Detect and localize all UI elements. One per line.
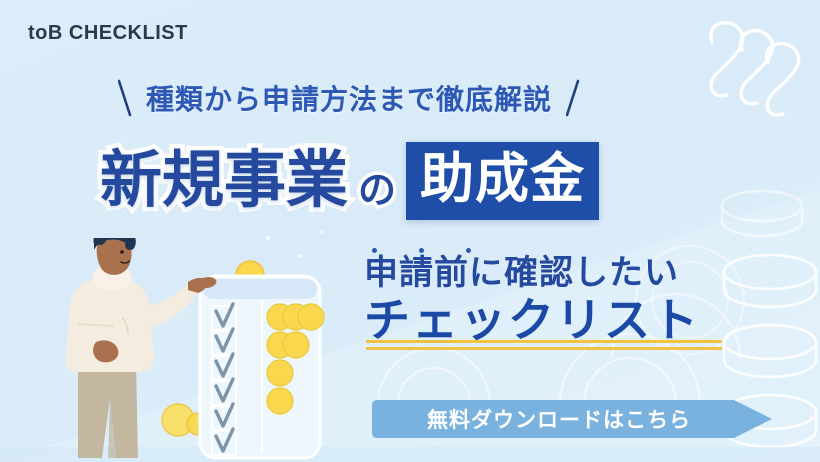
emphasis-dot [466,248,471,253]
copy-line-2-wrapper: チェックリスト [364,295,784,347]
gold-underline-bottom [366,347,722,350]
banner-root: toB CHECKLIST 種類から申請方法まで徹底解説 新規事業 の 助成金 … [0,0,820,462]
brand-label: toB CHECKLIST [28,22,188,45]
slash-right-icon [566,79,580,117]
headline-boxed-text: 助成金 [406,142,599,220]
gold-underline-top [366,340,722,343]
emphasis-dot [419,248,424,253]
download-cta-label: 無料ダウンロードはこちら [427,404,691,434]
checklist-card [200,276,324,458]
emphasis-dots [364,248,784,253]
headline: 新規事業 の 助成金 [100,142,599,220]
illustration-person-checklist [18,238,368,462]
download-cta-button[interactable]: 無料ダウンロードはこちら [372,400,772,438]
slash-left-icon [118,79,132,117]
headline-main-text: 新規事業 [100,150,348,212]
subtitle-row: 種類から申請方法まで徹底解説 [118,78,580,118]
spiral-squiggle-icon [711,23,799,115]
subtitle-text: 種類から申請方法まで徹底解説 [146,78,552,118]
headline-particle-text: の [358,159,396,214]
emphasis-dot [372,248,377,253]
copy-block: 申請前に確認したい チェックリスト [364,248,784,347]
copy-line-1: 申請前に確認したい [364,254,784,293]
